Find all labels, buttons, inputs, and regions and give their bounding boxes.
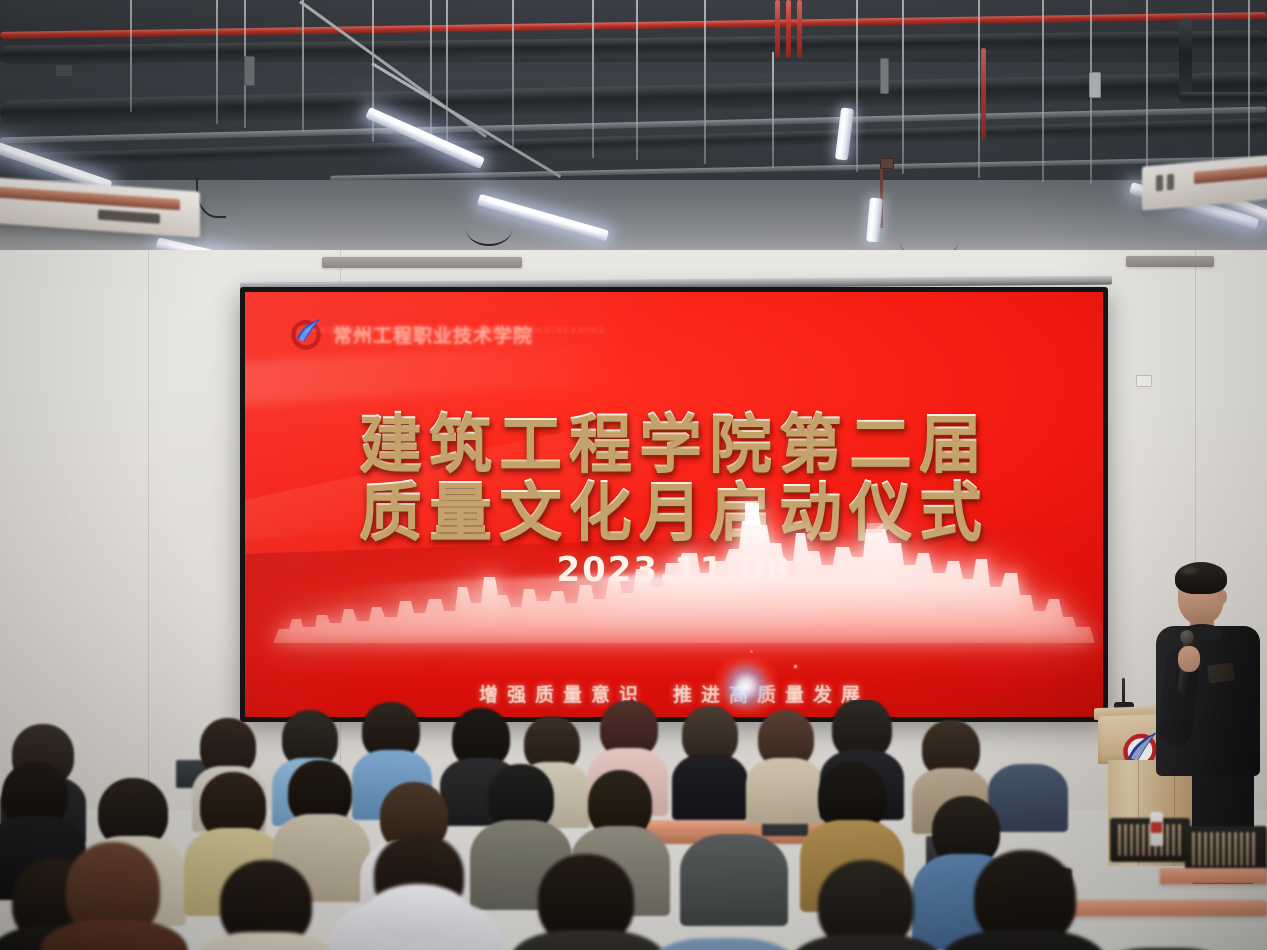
audience-person	[330, 834, 502, 950]
conference-hall-photo: 常州工程职业技术学院 CHANGZHOU VOCATIONAL INSTITUT…	[0, 0, 1267, 950]
audience-person	[648, 868, 798, 950]
institution-name-english: CHANGZHOU VOCATIONAL INSTITUTE OF ENGINE…	[297, 326, 607, 335]
downpipe-right-elbow	[1179, 92, 1267, 104]
audience-person	[196, 860, 336, 950]
downpipe-right	[1179, 18, 1192, 98]
event-title-line-1: 建筑工程学院第二届	[245, 410, 1103, 478]
wall-outlet	[1136, 375, 1152, 387]
riser-pipe-a	[775, 0, 780, 58]
riser-pipe-c	[797, 0, 802, 58]
event-title-line-2: 质量文化月启动仪式	[245, 478, 1103, 546]
audience-person	[1090, 876, 1240, 950]
audience-person	[510, 854, 666, 950]
audience-person	[940, 850, 1106, 950]
wall-duct-left	[322, 257, 522, 268]
wall-duct-right	[1126, 256, 1214, 267]
led-screen-display: 常州工程职业技术学院 CHANGZHOU VOCATIONAL INSTITUT…	[245, 292, 1103, 717]
audience-area	[0, 700, 1267, 950]
event-date: 2023.11.08	[245, 550, 1103, 590]
event-title: 建筑工程学院第二届 质量文化月启动仪式	[245, 410, 1103, 546]
fluorescent-tube-light	[866, 198, 883, 243]
riser-pipe-d	[981, 48, 986, 140]
hanging-cable-left	[196, 178, 226, 218]
audience-person	[790, 860, 944, 950]
water-bottle	[1150, 812, 1163, 846]
led-screen-frame: 常州工程职业技术学院 CHANGZHOU VOCATIONAL INSTITUT…	[240, 287, 1108, 722]
riser-pipe-b	[786, 0, 791, 58]
audience-person	[40, 842, 188, 950]
hanging-cable-mid	[466, 212, 512, 246]
